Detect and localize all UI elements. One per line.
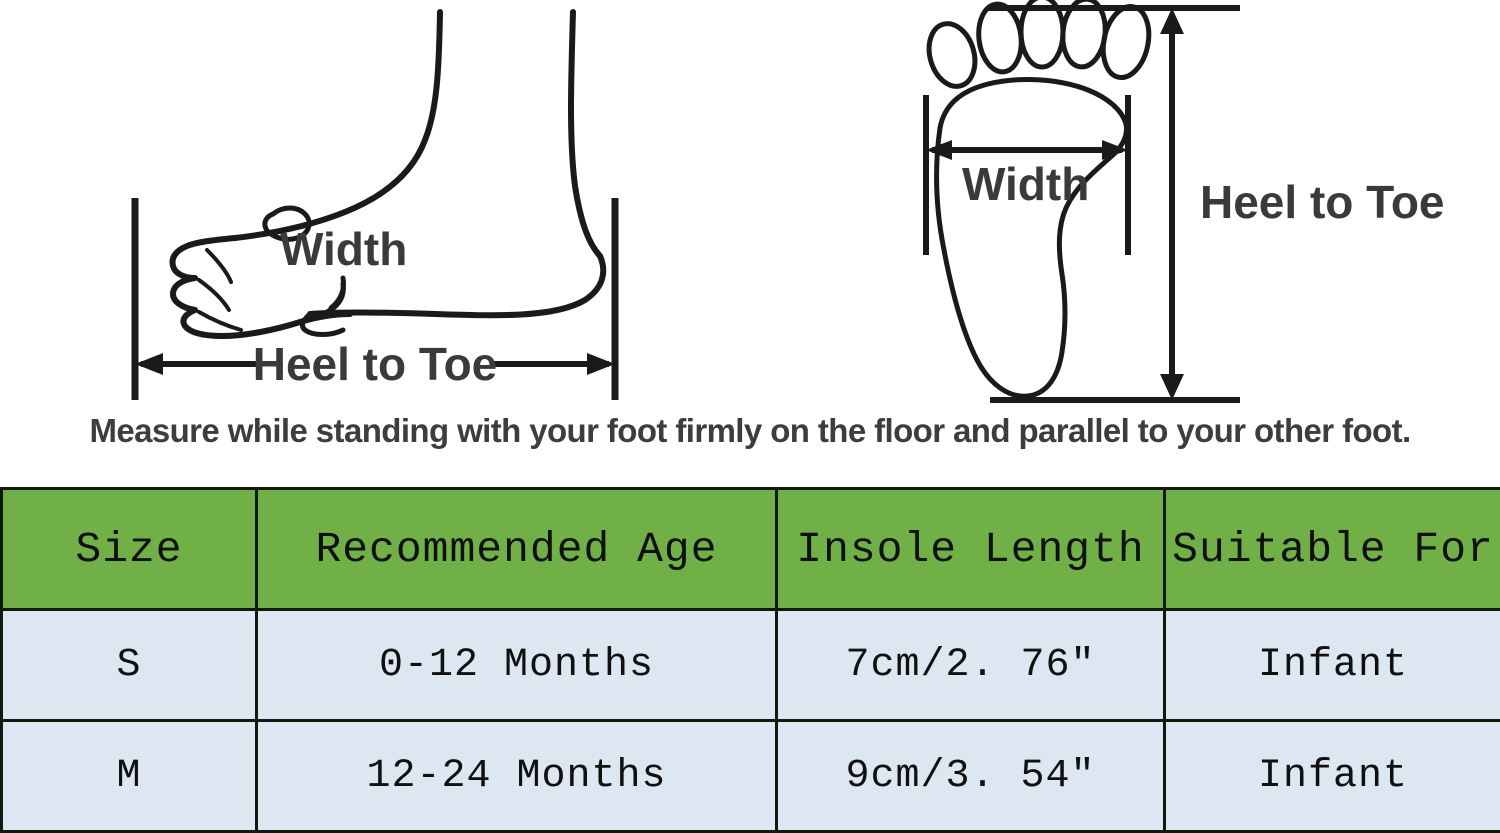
width-dimension-side: Width xyxy=(280,223,407,308)
header-recommended-age: Recommended Age xyxy=(257,489,777,610)
heel-to-toe-label: Heel to Toe xyxy=(1200,176,1445,228)
table-row: S 0-12 Months 7cm/2. 76″ Infant xyxy=(2,610,1500,721)
cell-insole-length: 7cm/2. 76″ xyxy=(777,610,1165,721)
header-size: Size xyxy=(2,489,257,610)
cell-size: S xyxy=(2,610,257,721)
width-label: Width xyxy=(962,158,1089,210)
table-header-row: Size Recommended Age Insole Length Suita… xyxy=(2,489,1500,610)
foot-side-view-diagram: Width Heel to Toe xyxy=(95,0,665,410)
cell-size: M xyxy=(2,721,257,832)
width-dimension-top: Width xyxy=(926,95,1128,255)
cell-recommended-age: 0-12 Months xyxy=(257,610,777,721)
measurement-instruction: Measure while standing with your foot fi… xyxy=(0,412,1500,450)
foot-top-view-diagram: Width Heel to Toe xyxy=(900,0,1500,410)
measurement-diagrams: Width Heel to Toe xyxy=(0,0,1500,410)
cell-insole-length: 9cm/3. 54″ xyxy=(777,721,1165,832)
length-arrowhead-top xyxy=(1160,8,1184,34)
size-chart-page: Width Heel to Toe xyxy=(0,0,1500,833)
foot-side-outline xyxy=(173,12,604,336)
width-pointer-line xyxy=(331,278,344,308)
arrowhead-right xyxy=(587,353,615,375)
cell-suitable-for: Infant xyxy=(1165,610,1500,721)
size-chart-table: Size Recommended Age Insole Length Suita… xyxy=(0,487,1500,833)
cell-recommended-age: 12-24 Months xyxy=(257,721,777,832)
header-insole-length: Insole Length xyxy=(777,489,1165,610)
table-row: M 12-24 Months 9cm/3. 54″ Infant xyxy=(2,721,1500,832)
width-label: Width xyxy=(280,223,407,275)
cell-suitable-for: Infant xyxy=(1165,721,1500,832)
length-arrowhead-bottom xyxy=(1160,374,1184,400)
heel-to-toe-label: Heel to Toe xyxy=(253,338,498,390)
header-suitable-for: Suitable For xyxy=(1165,489,1500,610)
arrowhead-left xyxy=(135,353,163,375)
